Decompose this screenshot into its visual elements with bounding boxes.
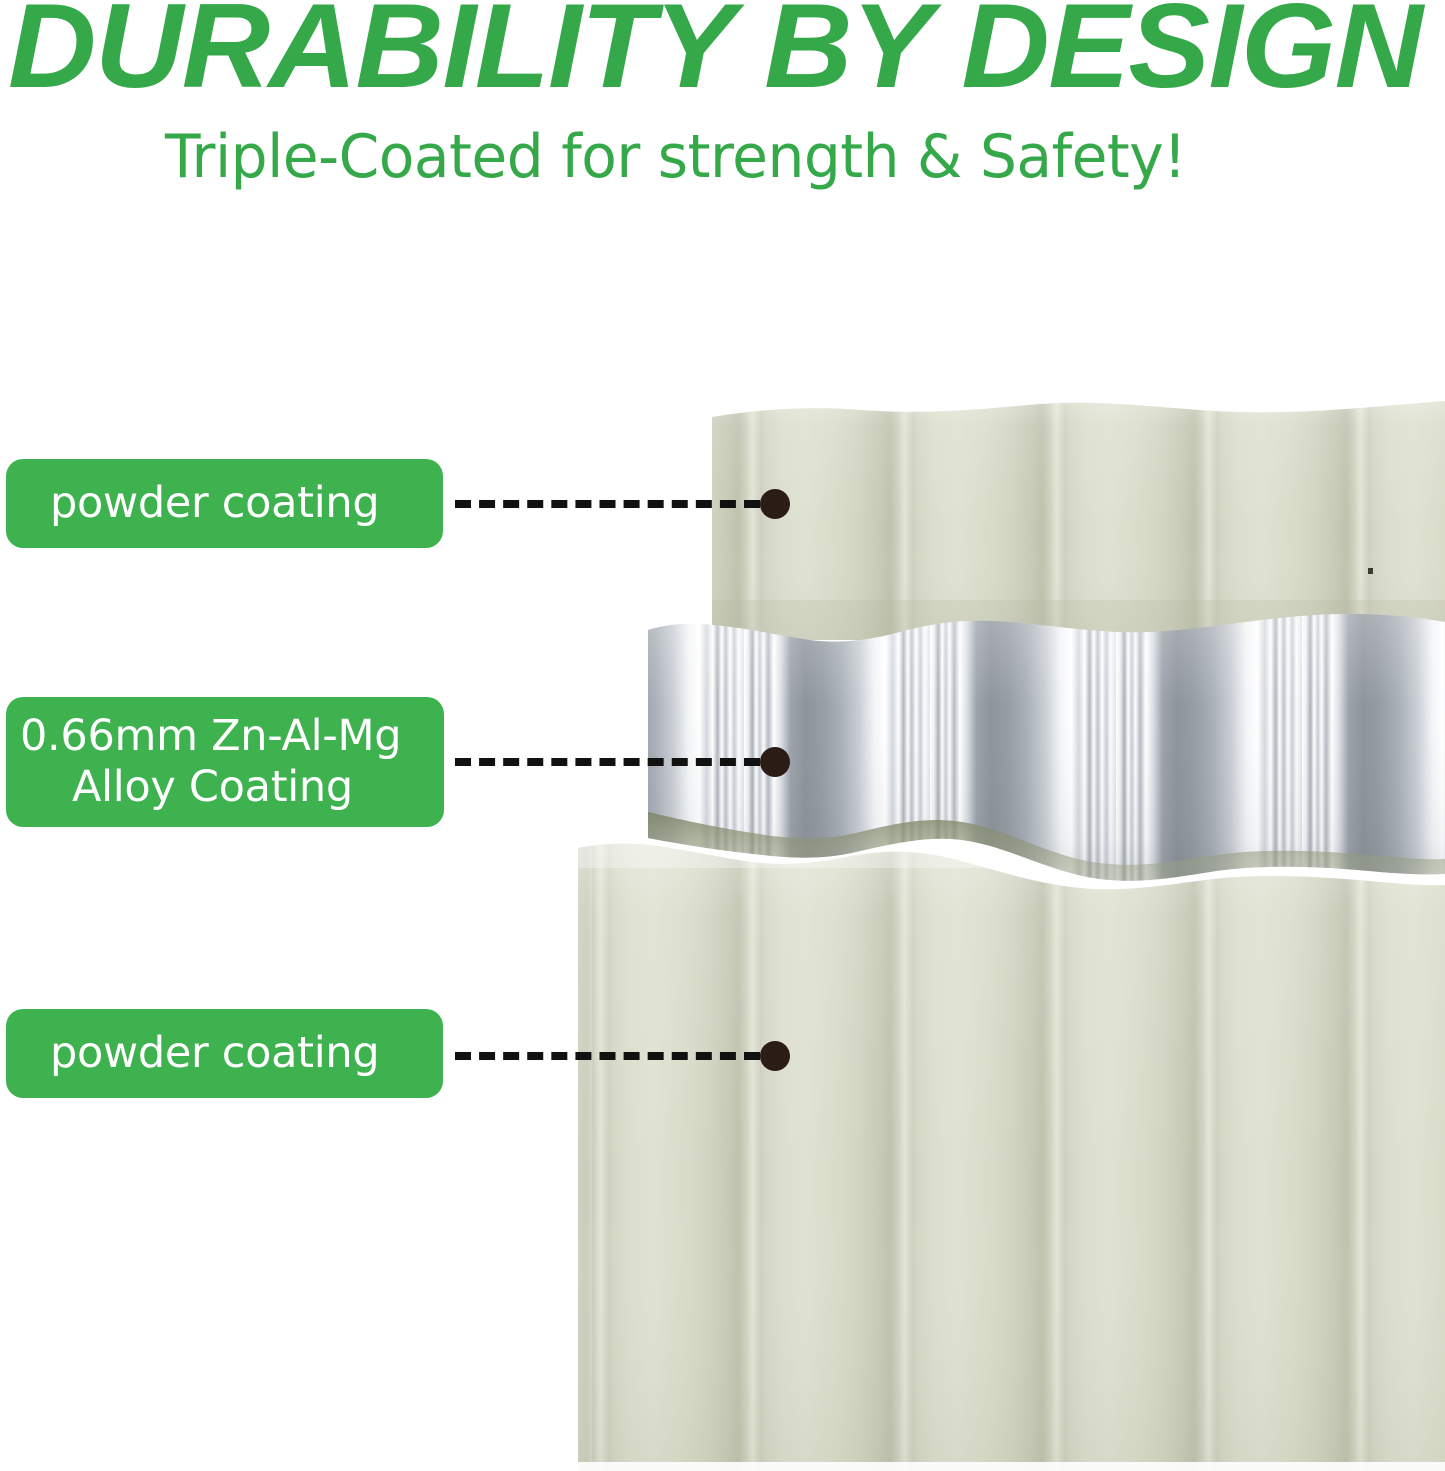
page-title: DURABILITY BY DESIGN [8,0,1436,106]
leader-line-alloy-coating [455,758,790,766]
leader-line-powder-coating-top [455,500,790,508]
leader-line-powder-coating-bottom [455,1052,790,1060]
infographic-canvas: DURABILITY BY DESIGN Triple-Coated for s… [0,0,1445,1471]
page-subtitle: Triple-Coated for strength & Safety! [165,122,1186,192]
callout-label-powder-coating-top: powder coating [50,478,443,529]
surface-speck [1368,568,1373,574]
zinc-aluminum-magnesium-alloy-layer [640,600,1445,900]
callout-label-alloy-coating-line1: 0.66mm Zn-Al-Mg [20,711,444,762]
top-powder-coat-layer [700,395,1445,645]
callout-badge-powder-coating-top[interactable]: powder coating [6,459,443,548]
callout-label-powder-coating-bottom: powder coating [50,1028,443,1079]
bottom-powder-coat-layer [570,835,1445,1471]
leader-dot-alloy-coating [760,747,790,777]
callout-label-alloy-coating-line2: Alloy Coating [20,762,444,813]
leader-dot-powder-coating-top [760,489,790,519]
callout-badge-alloy-coating[interactable]: 0.66mm Zn-Al-Mg Alloy Coating [6,697,444,827]
leader-dot-powder-coating-bottom [760,1041,790,1071]
callout-badge-powder-coating-bottom[interactable]: powder coating [6,1009,443,1098]
